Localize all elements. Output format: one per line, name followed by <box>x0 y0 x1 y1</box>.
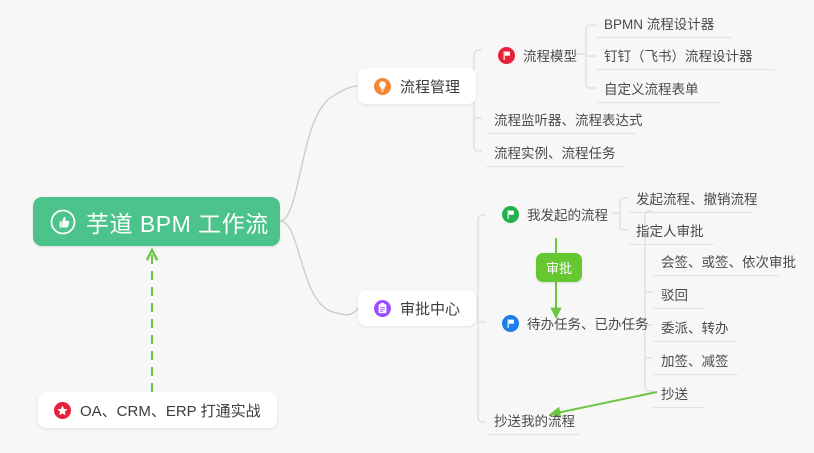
flag-icon <box>498 47 515 64</box>
branch-label: 流程管理 <box>400 76 460 97</box>
node-label: 委派、转办 <box>661 317 729 337</box>
node-label: 流程模型 <box>523 45 577 65</box>
node-label: 自定义流程表单 <box>604 78 699 98</box>
wire-root-to-process-management <box>280 86 358 221</box>
root-label: 芋道 BPM 工作流 <box>86 205 269 239</box>
node-countersign[interactable]: 会签、或签、依次审批 <box>653 246 779 276</box>
node-dingtalk-designer[interactable]: 钉钉（飞书）流程设计器 <box>596 40 774 70</box>
flag-icon <box>502 315 519 332</box>
node-label: BPMN 流程设计器 <box>604 13 714 33</box>
clipboard-icon <box>374 300 391 317</box>
node-label: 会签、或签、依次审批 <box>661 251 796 271</box>
node-label: 钉钉（飞书）流程设计器 <box>604 45 753 65</box>
node-cc-my-process[interactable]: 抄送我的流程 <box>486 405 580 435</box>
node-process-model[interactable]: 流程模型 <box>490 40 580 70</box>
node-instance-task[interactable]: 流程实例、流程任务 <box>486 137 624 167</box>
node-todo-done-tasks[interactable]: 待办任务、已办任务 <box>494 308 637 338</box>
annotation-label: 审批 <box>546 261 572 276</box>
node-assigned-approval[interactable]: 指定人审批 <box>628 215 714 245</box>
wire-pm-spine <box>474 50 482 151</box>
node-label: 流程实例、流程任务 <box>494 142 616 162</box>
root-node[interactable]: 芋道 BPM 工作流 <box>33 197 280 246</box>
node-reject[interactable]: 驳回 <box>653 279 705 309</box>
branch-label: 审批中心 <box>400 298 460 319</box>
node-label: 抄送我的流程 <box>494 410 575 430</box>
node-label: 抄送 <box>661 383 688 403</box>
annotation-label: OA、CRM、ERP 打通实战 <box>80 400 261 421</box>
wire-root-to-approval-center <box>280 221 358 315</box>
annotation-approve-pill: 审批 <box>536 253 582 282</box>
annotation-integration-note[interactable]: OA、CRM、ERP 打通实战 <box>38 392 277 428</box>
node-start-cancel-process[interactable]: 发起流程、撤销流程 <box>628 183 752 213</box>
lightbulb-icon <box>374 78 391 95</box>
branch-approval-center[interactable]: 审批中心 <box>358 290 476 326</box>
node-label: 加签、减签 <box>661 350 729 370</box>
node-label: 待办任务、已办任务 <box>527 313 649 333</box>
node-add-remove-sign[interactable]: 加签、减签 <box>653 345 738 375</box>
node-label: 发起流程、撤销流程 <box>636 188 758 208</box>
thumbs-up-icon <box>50 209 76 235</box>
branch-process-management[interactable]: 流程管理 <box>358 68 476 104</box>
star-icon <box>54 402 71 419</box>
node-label: 流程监听器、流程表达式 <box>494 109 643 129</box>
wire-model-spine <box>586 25 596 88</box>
node-label: 我发起的流程 <box>527 204 608 224</box>
node-custom-form[interactable]: 自定义流程表单 <box>596 73 721 103</box>
node-delegate-transfer[interactable]: 委派、转办 <box>653 312 738 342</box>
node-listener-expression[interactable]: 流程监听器、流程表达式 <box>486 104 636 134</box>
node-cc[interactable]: 抄送 <box>653 378 705 408</box>
node-label: 驳回 <box>661 284 688 304</box>
node-label: 指定人审批 <box>636 220 704 240</box>
wire-mine-spine <box>620 198 628 230</box>
flag-icon <box>502 206 519 223</box>
node-bpmn-designer[interactable]: BPMN 流程设计器 <box>596 8 732 38</box>
wire-ac-spine <box>478 215 486 422</box>
mindmap-canvas: 芋道 BPM 工作流 流程管理 流程模型 BPMN 流程设计器 钉钉（飞书）流程 <box>0 0 814 453</box>
node-my-initiated-process[interactable]: 我发起的流程 <box>494 199 612 229</box>
